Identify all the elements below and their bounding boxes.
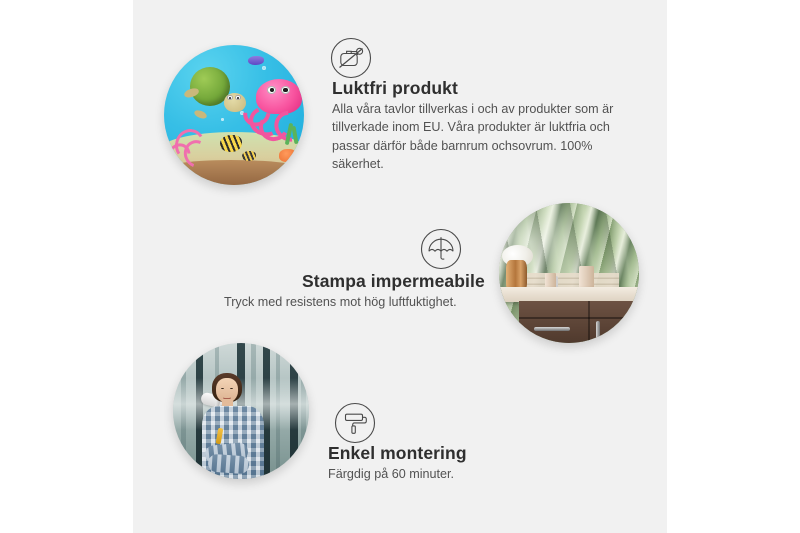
- umbrella-icon: [419, 227, 463, 271]
- product-feature-infographic: Luktfri produkt Alla våra tavlor tillver…: [0, 0, 800, 533]
- forest-painter-scene: [173, 343, 309, 479]
- turtle-eye-right: [235, 95, 241, 100]
- eye-left: [221, 388, 224, 389]
- no-perfume-bottle-icon: [329, 36, 373, 80]
- fish-top: [248, 56, 264, 65]
- feature-photo-underwater: [164, 45, 304, 185]
- octopus-eye-right: [281, 86, 290, 94]
- feature-body-waterproof: Tryck med resistens mot hög luftfuktighe…: [224, 295, 457, 309]
- bathroom-scene: [499, 203, 639, 343]
- feature-photo-painter: [173, 343, 309, 479]
- underwater-scene: [164, 45, 304, 185]
- turtle-eye-left: [227, 95, 233, 100]
- feature-title-waterproof: Stampa impermeabile: [302, 271, 485, 292]
- turtle: [186, 67, 242, 115]
- infographic-canvas: Luktfri produkt Alla våra tavlor tillver…: [133, 0, 667, 533]
- eye-right: [230, 388, 233, 389]
- vanity-seam: [519, 317, 639, 319]
- feature-block-odourless: Luktfri produkt Alla våra tavlor tillver…: [133, 0, 667, 200]
- feature-photo-bathroom: [499, 203, 639, 343]
- arm-crossed-lower: [207, 453, 249, 474]
- octopus-eye-left: [267, 86, 276, 94]
- fish-yellow-striped: [220, 135, 242, 152]
- drawer-handle: [534, 327, 570, 331]
- feature-title-easy-mounting: Enkel montering: [328, 443, 467, 464]
- feature-body-odourless: Alla våra tavlor tillverkas i och av pro…: [332, 100, 620, 173]
- paint-roller-icon: [333, 401, 377, 445]
- painter-woman: [195, 373, 268, 479]
- feature-block-waterproof: Stampa impermeabile Tryck med resistens …: [133, 195, 667, 345]
- fish-small-yellow: [242, 151, 256, 161]
- feature-block-easy-mounting: Enkel montering Färgdig på 60 minuter.: [133, 335, 667, 525]
- crab: [279, 149, 297, 162]
- feature-body-easy-mounting: Färgdig på 60 minuter.: [328, 467, 454, 481]
- feature-title-odourless: Luktfri produkt: [332, 78, 458, 99]
